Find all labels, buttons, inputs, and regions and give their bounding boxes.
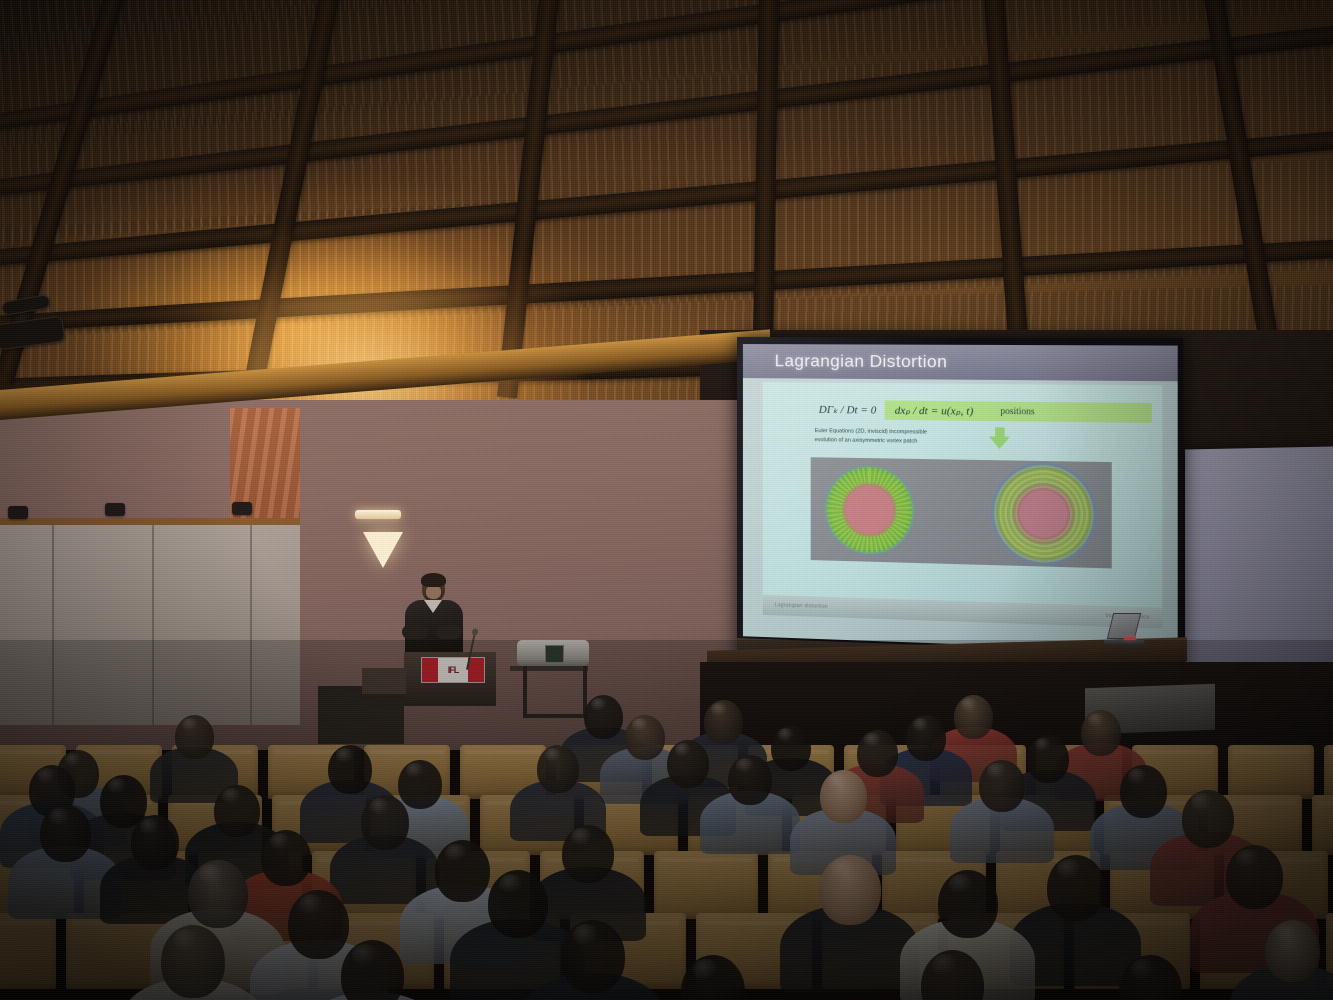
slide-body: DΓₖ / Dt = 0 dxₚ / dt = u(xₚ, t) positio… <box>763 382 1163 628</box>
equation-highlight-band: dxₚ / dt = u(xₚ, t) positions <box>884 400 1151 423</box>
audience-member-head <box>681 955 745 1000</box>
laptop-base <box>1104 640 1144 646</box>
hair-highlight <box>108 778 127 794</box>
slide-caption: Euler Equations (2D, inviscid) incompres… <box>815 427 948 446</box>
equation-highlight-text: dxₚ / dt = u(xₚ, t) <box>895 403 974 417</box>
wall-speaker-icon <box>8 506 28 519</box>
audience-member-head <box>1265 920 1320 982</box>
hair-highlight <box>571 828 592 845</box>
audience-member-head <box>561 920 625 993</box>
slide-footer-left: Lagrangian distortion <box>775 602 828 610</box>
vortex-plot-right <box>991 461 1097 567</box>
audience-member <box>1080 955 1221 1000</box>
audience-member-head <box>921 950 984 1000</box>
audience-member-head <box>175 715 214 759</box>
lamp-bar <box>355 510 401 519</box>
equation-left: DΓₖ / Dt = 0 <box>819 402 877 416</box>
audience-member-head <box>1119 955 1182 1000</box>
audience-member-head <box>704 700 743 744</box>
laptop-indicator-light <box>1124 637 1136 640</box>
audience-member-head <box>1047 855 1105 921</box>
hair-highlight <box>573 924 599 946</box>
hair-highlight <box>37 768 55 784</box>
audience-member-head <box>938 870 998 938</box>
audience-member-head <box>161 925 225 998</box>
hair-highlight <box>778 728 794 742</box>
audience-member-head <box>1226 845 1283 909</box>
hair-highlight <box>222 788 240 804</box>
vortex-speckle-texture <box>825 464 915 555</box>
presenter-arm-right <box>436 625 462 639</box>
audience-member <box>120 925 266 1000</box>
auditorium-seat <box>1324 745 1333 799</box>
hair-highlight <box>1128 768 1147 784</box>
vortex-plot-panel <box>811 457 1112 568</box>
equation-highlight-label: positions <box>1000 406 1034 417</box>
hair-highlight <box>949 874 973 894</box>
hair-highlight <box>961 698 977 711</box>
hair-highlight <box>711 703 727 716</box>
hair-highlight <box>370 798 389 815</box>
hair-highlight <box>591 698 607 711</box>
audience-member-head <box>40 805 91 862</box>
hair-highlight <box>1130 959 1155 980</box>
screen-surface: Lagrangian Distortion DΓₖ / Dt = 0 dxₚ /… <box>743 344 1178 652</box>
wall-speaker-icon <box>105 503 125 516</box>
hair-highlight <box>1275 924 1297 943</box>
audience-member-head <box>328 745 372 794</box>
slide-title: Lagrangian Distortion <box>743 351 947 372</box>
slide-footer: Lagrangian distortion Vortex dynamics <box>763 595 1163 629</box>
lamp-cone <box>363 532 403 568</box>
hair-highlight <box>49 808 69 825</box>
hair-highlight <box>1191 793 1212 810</box>
audience-member-head <box>979 760 1025 812</box>
audience-member-head <box>728 755 772 805</box>
presenter-hair <box>421 573 446 587</box>
hair-highlight <box>830 859 855 880</box>
hair-highlight <box>1088 713 1104 727</box>
audience-member-head <box>341 940 404 1000</box>
hair-highlight <box>445 844 467 863</box>
laptop <box>1110 613 1144 646</box>
audience-member <box>640 955 786 1000</box>
hair-highlight <box>140 818 159 835</box>
vortex-ring-texture <box>991 461 1097 567</box>
hair-highlight <box>1236 849 1259 868</box>
hair-highlight <box>499 874 523 894</box>
audience-member-head <box>1182 790 1234 848</box>
lecture-hall-photo: Lagrangian Distortion DΓₖ / Dt = 0 dxₚ /… <box>0 0 1333 1000</box>
laptop-lid <box>1107 613 1141 639</box>
pendant-lamp <box>355 510 403 568</box>
hair-highlight <box>675 743 692 757</box>
hair-highlight <box>693 959 719 981</box>
hair-highlight <box>736 758 754 773</box>
hair-highlight <box>545 748 562 762</box>
audience-member-head <box>537 745 579 793</box>
hair-highlight <box>864 733 880 747</box>
hair-highlight <box>182 718 198 731</box>
hair-highlight <box>270 833 290 850</box>
audience-member <box>1230 920 1333 1000</box>
hair-highlight <box>199 864 223 884</box>
hair-highlight <box>987 763 1005 779</box>
hair-highlight <box>336 748 354 763</box>
equation-row: DΓₖ / Dt = 0 dxₚ / dt = u(xₚ, t) positio… <box>777 392 1152 429</box>
audience-member-head <box>188 860 248 928</box>
hair-highlight <box>406 763 424 778</box>
hair-highlight <box>352 944 377 966</box>
hair-highlight <box>1057 859 1080 879</box>
hair-highlight <box>299 894 323 915</box>
audience-member <box>700 755 800 868</box>
presenter-arm-left <box>402 625 428 639</box>
audience <box>0 655 1333 1000</box>
hair-highlight <box>828 773 847 789</box>
audience-member-head <box>819 855 881 925</box>
audience-member <box>880 950 1024 1000</box>
hair-highlight <box>932 954 957 976</box>
presenter-face <box>426 585 441 599</box>
hair-highlight <box>632 718 648 732</box>
audience-member <box>300 940 444 1000</box>
vortex-plot-left <box>825 464 915 555</box>
wall-speaker-icon <box>232 502 252 515</box>
hair-highlight <box>1035 738 1052 752</box>
audience-member-head <box>820 770 867 823</box>
hair-highlight <box>173 929 199 951</box>
slide-header-band: Lagrangian Distortion <box>743 344 1178 381</box>
